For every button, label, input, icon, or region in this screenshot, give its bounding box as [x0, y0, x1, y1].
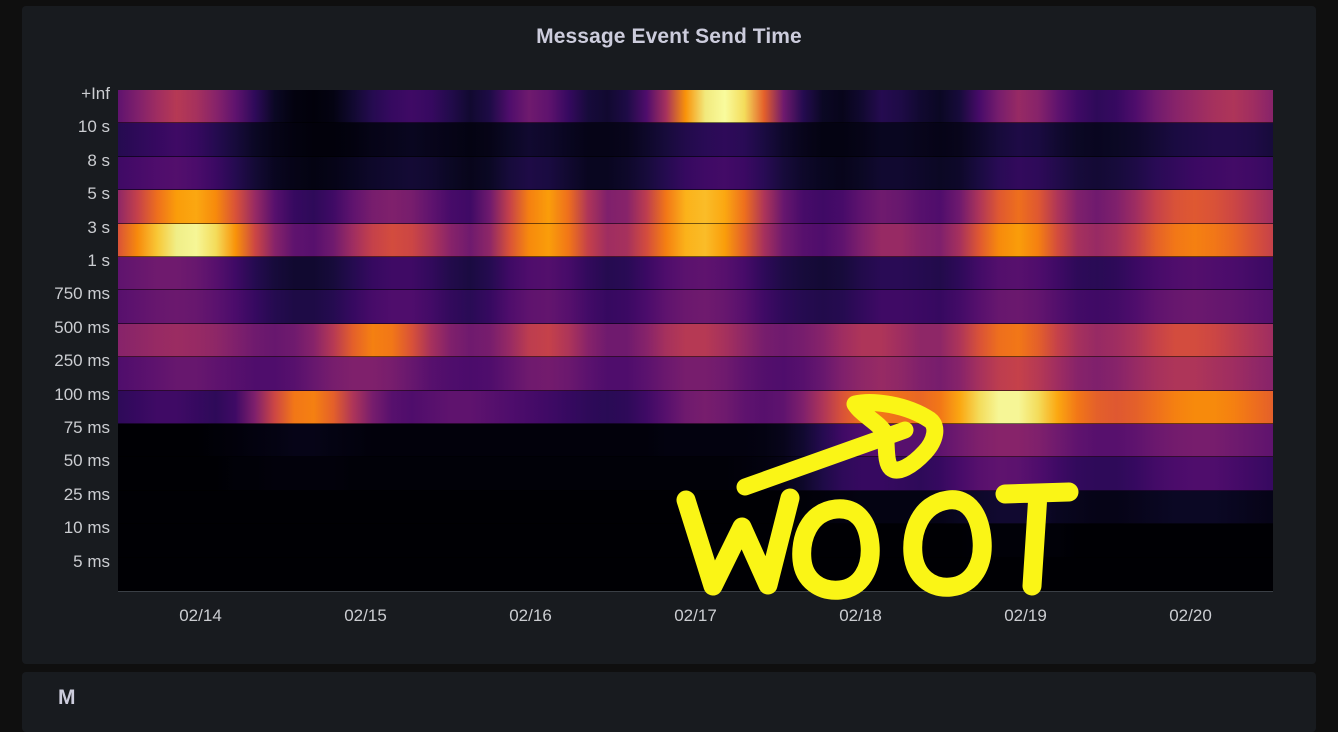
y-axis-tick-5: 1 s [0, 251, 110, 271]
heatmap-row[interactable] [118, 324, 1273, 357]
next-panel: M [22, 672, 1316, 732]
x-axis-tick-3: 02/17 [674, 606, 717, 626]
heatmap-row[interactable] [118, 524, 1273, 557]
x-axis-tick-5: 02/19 [1004, 606, 1047, 626]
heatmap-row[interactable] [118, 558, 1273, 591]
y-axis-tick-2: 8 s [0, 151, 110, 171]
y-axis-tick-1: 10 s [0, 117, 110, 137]
heatmap-panel: Message Event Send Time +Inf10 s8 s5 s3 … [22, 6, 1316, 664]
x-axis-tick-1: 02/15 [344, 606, 387, 626]
x-axis-tick-2: 02/16 [509, 606, 552, 626]
y-axis-tick-0: +Inf [0, 84, 110, 104]
x-axis-tick-4: 02/18 [839, 606, 882, 626]
heatmap-row[interactable] [118, 257, 1273, 290]
x-axis-tick-6: 02/20 [1169, 606, 1212, 626]
heatmap-row[interactable] [118, 290, 1273, 323]
y-axis-tick-3: 5 s [0, 184, 110, 204]
heatmap-row[interactable] [118, 424, 1273, 457]
y-axis-tick-8: 250 ms [0, 351, 110, 371]
heatmap-plot-area[interactable] [118, 90, 1273, 591]
y-axis-tick-4: 3 s [0, 218, 110, 238]
heatmap-row[interactable] [118, 190, 1273, 223]
y-axis-tick-13: 10 ms [0, 518, 110, 538]
y-axis-tick-7: 500 ms [0, 318, 110, 338]
y-axis-tick-6: 750 ms [0, 284, 110, 304]
heatmap-row[interactable] [118, 90, 1273, 123]
y-axis-tick-11: 50 ms [0, 451, 110, 471]
next-panel-title: M [58, 686, 76, 710]
x-axis-tick-0: 02/14 [179, 606, 222, 626]
heatmap-chart: +Inf10 s8 s5 s3 s1 s750 ms500 ms250 ms10… [118, 90, 1273, 591]
heatmap-row[interactable] [118, 224, 1273, 257]
heatmap-row[interactable] [118, 491, 1273, 524]
heatmap-row[interactable] [118, 123, 1273, 156]
x-axis-line [118, 591, 1273, 592]
heatmap-row[interactable] [118, 357, 1273, 390]
y-axis-tick-10: 75 ms [0, 418, 110, 438]
heatmap-row[interactable] [118, 157, 1273, 190]
y-axis-tick-14: 5 ms [0, 552, 110, 572]
y-axis-tick-12: 25 ms [0, 485, 110, 505]
heatmap-row[interactable] [118, 391, 1273, 424]
y-axis-tick-9: 100 ms [0, 385, 110, 405]
page-title: Message Event Send Time [22, 25, 1316, 49]
heatmap-row[interactable] [118, 457, 1273, 490]
